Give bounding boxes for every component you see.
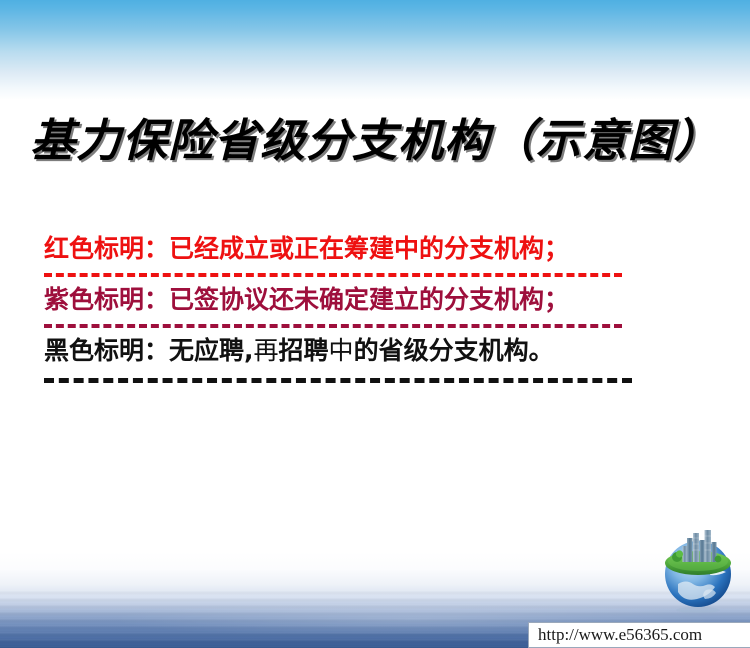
legend-block: 红色标明：已经成立或正在筹建中的分支机构； 紫色标明：已签协议还未确定建立的分支…: [44, 236, 664, 383]
legend-black-part-a: 无应聘,: [169, 336, 254, 365]
slide-canvas: 基力保险省级分支机构（示意图） 红色标明：已经成立或正在筹建中的分支机构； 紫色…: [0, 0, 750, 648]
legend-separator-black: [44, 378, 632, 383]
legend-black-prefix: 黑色标明：: [44, 336, 169, 365]
legend-row-red: 红色标明：已经成立或正在筹建中的分支机构；: [44, 236, 664, 262]
legend-black-part-d: 中: [329, 336, 354, 365]
legend-black-part-e: 的省级分支机构。: [354, 336, 554, 365]
legend-separator-purple: [44, 324, 622, 328]
watermark-url-text: http://www.e56365.com: [529, 625, 702, 645]
legend-row-purple: 紫色标明：已签协议还未确定建立的分支机构；: [44, 287, 664, 313]
sky-gradient-band: [0, 0, 750, 100]
globe-city-icon: [648, 524, 748, 624]
legend-black-part-b: 再: [254, 336, 279, 365]
legend-separator-red: [44, 273, 622, 277]
legend-row-black: 黑色标明：无应聘,再招聘中的省级分支机构。: [44, 338, 664, 364]
globe-city-logo: [648, 524, 748, 624]
page-title: 基力保险省级分支机构（示意图）: [0, 104, 750, 169]
watermark-url-box: http://www.e56365.com: [528, 622, 750, 648]
legend-black-part-c: 招聘: [279, 336, 329, 365]
